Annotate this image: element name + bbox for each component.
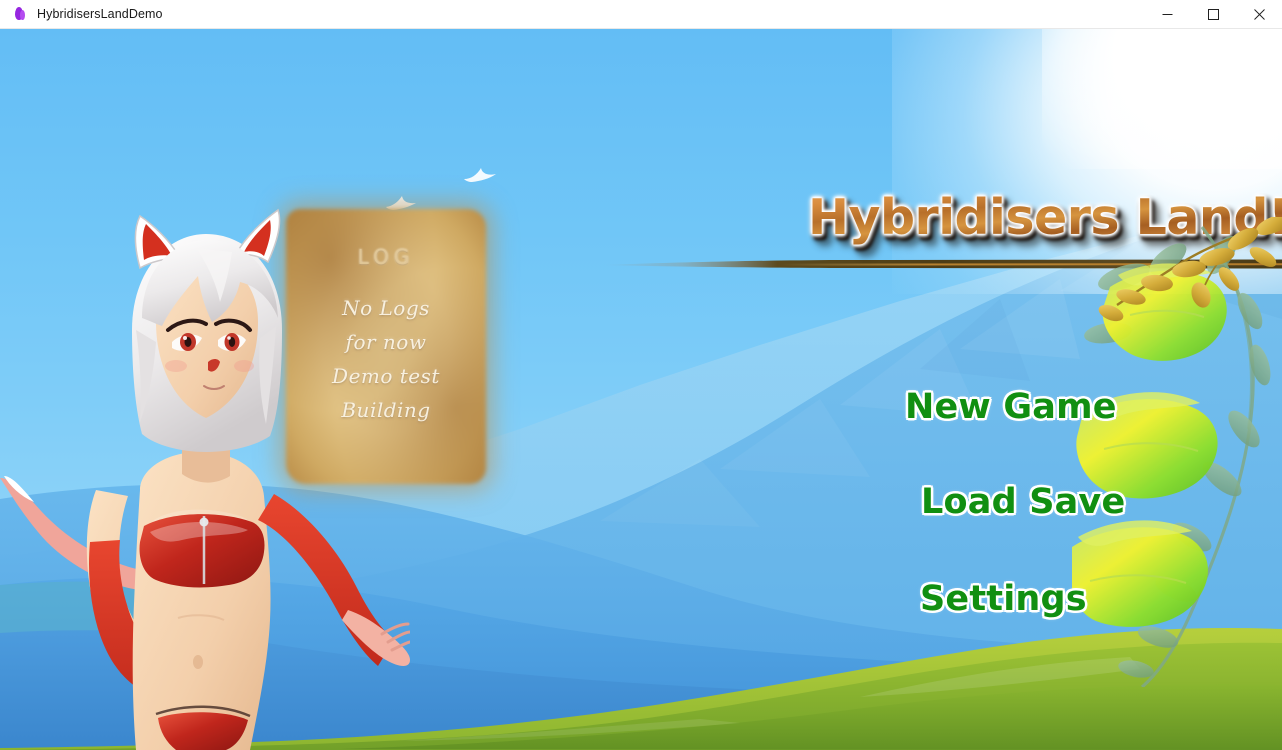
window-titlebar: HybridisersLandDemo	[0, 0, 1282, 29]
game-viewport: LOG No Logs for now Demo test Building	[0, 29, 1282, 750]
maximize-icon[interactable]	[1190, 0, 1236, 29]
main-menu: New Game Load Save Settings	[0, 29, 1282, 750]
window-title: HybridisersLandDemo	[37, 7, 163, 21]
menu-item-settings[interactable]: Settings	[920, 579, 1087, 619]
window-controls	[1144, 0, 1282, 29]
app-icon	[12, 6, 28, 22]
application-window: HybridisersLandDemo	[0, 0, 1282, 750]
menu-item-load-save[interactable]: Load Save	[921, 482, 1125, 522]
minimize-icon[interactable]	[1144, 0, 1190, 29]
menu-item-new-game[interactable]: New Game	[905, 387, 1117, 427]
close-icon[interactable]	[1236, 0, 1282, 29]
